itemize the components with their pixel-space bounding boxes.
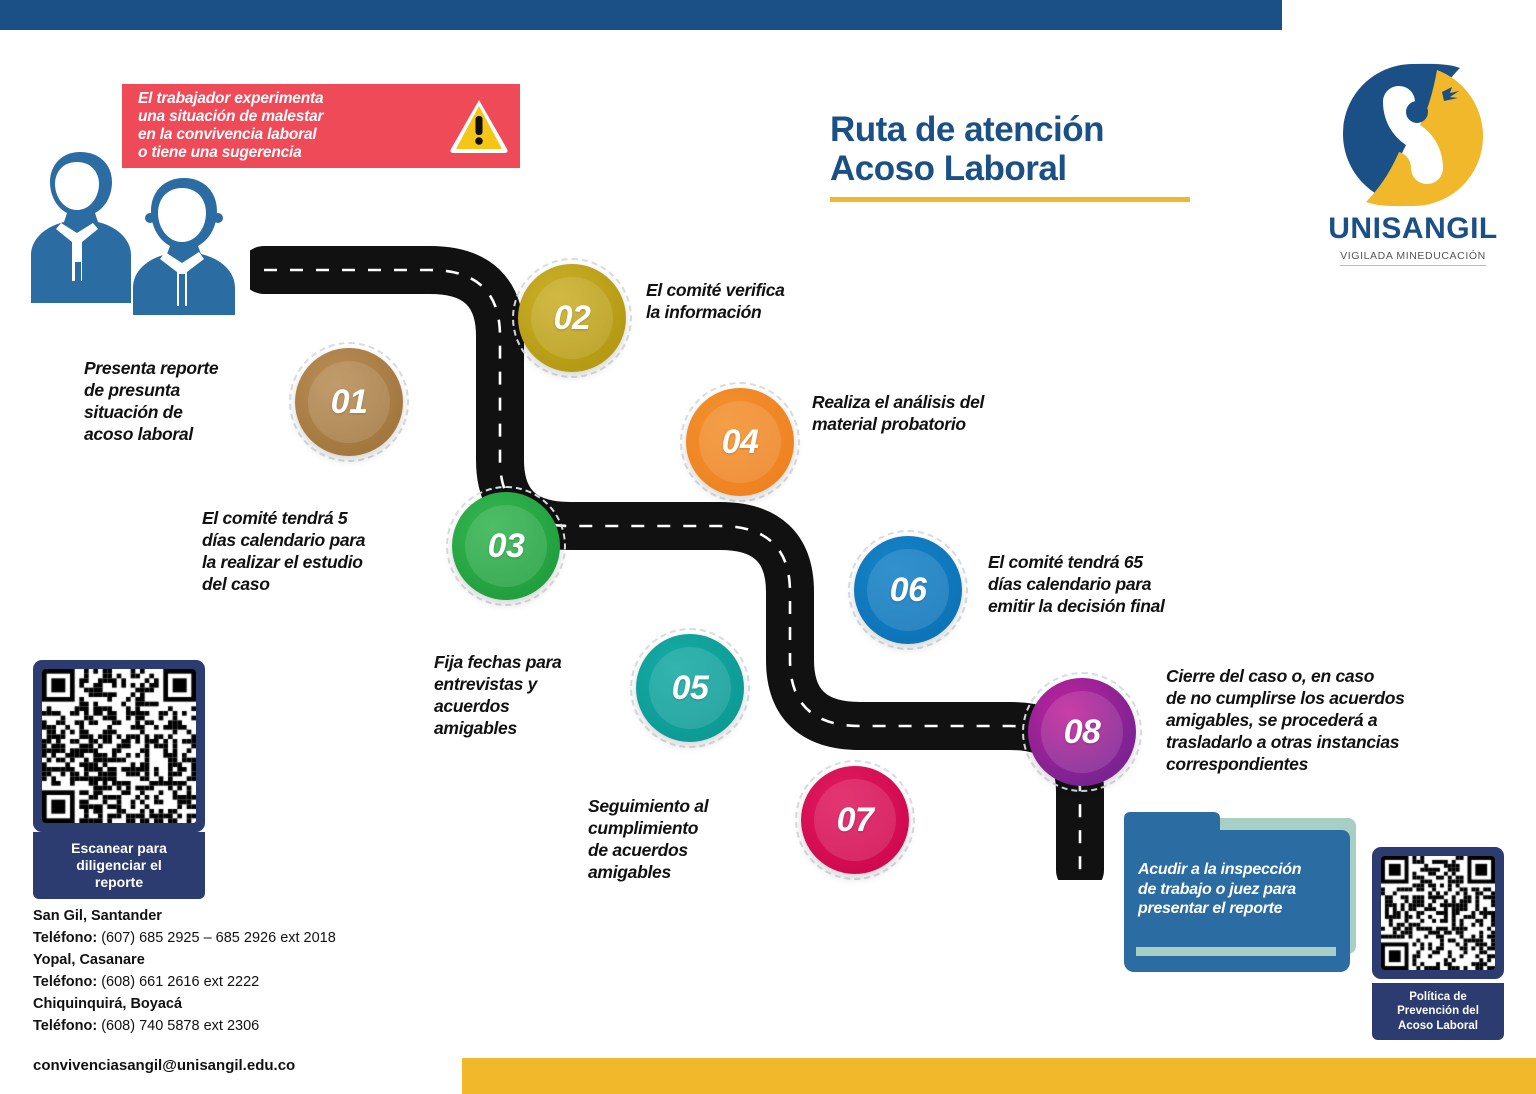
step-disc: 08: [1028, 678, 1136, 786]
qr-report-frame: [33, 660, 205, 832]
step-disc: 02: [518, 264, 626, 372]
step-caption-03: El comité tendrá 5 días calendario para …: [202, 508, 442, 596]
qr-report-panel[interactable]: Escanear para diligenciar el reporte: [33, 660, 205, 899]
step-disc: 05: [636, 634, 744, 742]
bottom-decorative-bar: [462, 1058, 1536, 1094]
folder-card: Acudir a la inspección de trabajo o juez…: [1124, 812, 1356, 972]
folder-body: Acudir a la inspección de trabajo o juez…: [1124, 830, 1350, 972]
folder-text: Acudir a la inspección de trabajo o juez…: [1138, 860, 1336, 919]
step-caption-01: Presenta reporte de presunta situación d…: [84, 358, 284, 446]
step-disc: 03: [452, 492, 560, 600]
step-caption-04: Realiza el análisis del material probato…: [812, 392, 1062, 436]
unisangil-logo: UNISANGIL VIGILADA MINEDUCACIÓN: [1318, 60, 1508, 266]
contact-city-2: Chiquinquirá, Boyacá: [33, 993, 453, 1015]
qr-report-code[interactable]: [42, 669, 196, 823]
qr-policy-panel[interactable]: Política de Prevención del Acoso Laboral: [1372, 847, 1504, 1040]
logo-tagline: VIGILADA MINEDUCACIÓN: [1340, 250, 1486, 266]
contact-city-1: Yopal, Casanare: [33, 949, 453, 971]
step-disc: 07: [801, 766, 909, 874]
qr-policy-code[interactable]: [1381, 856, 1495, 970]
qr-report-label: Escanear para diligenciar el reporte: [33, 832, 205, 899]
step-number: 06: [890, 571, 927, 610]
step-number: 05: [672, 669, 709, 708]
step-caption-02: El comité verifica la información: [646, 280, 876, 324]
title-underline: [830, 197, 1190, 202]
alert-banner: El trabajador experimenta una situación …: [122, 84, 520, 168]
page-title-block: Ruta de atención Acoso Laboral: [830, 110, 1210, 202]
step-caption-06: El comité tendrá 65 días calendario para…: [988, 552, 1248, 618]
contact-email[interactable]: convivenciasangil@unisangil.edu.co: [33, 1055, 453, 1078]
step-number: 02: [554, 299, 591, 338]
step-disc: 06: [854, 536, 962, 644]
qr-policy-label: Política de Prevención del Acoso Laboral: [1372, 983, 1504, 1040]
contact-phone-1: Teléfono: (608) 661 2616 ext 2222: [33, 971, 453, 993]
step-disc: 04: [686, 388, 794, 496]
infographic-canvas: El trabajador experimenta una situación …: [0, 0, 1536, 1094]
step-number: 03: [488, 527, 525, 566]
unisangil-mark-icon: [1338, 60, 1488, 210]
step-node-06[interactable]: 06: [848, 530, 968, 650]
step-number: 07: [837, 801, 874, 840]
warning-triangle-icon: [448, 97, 510, 155]
alert-banner-text: El trabajador experimenta una situación …: [138, 90, 440, 162]
logo-wordmark: UNISANGIL: [1318, 212, 1508, 246]
step-caption-05: Fija fechas para entrevistas y acuerdos …: [434, 652, 629, 740]
step-number: 04: [722, 423, 759, 462]
step-disc: 01: [295, 348, 403, 456]
step-node-03[interactable]: 03: [446, 486, 566, 606]
step-node-05[interactable]: 05: [630, 628, 750, 748]
step-number: 08: [1064, 713, 1101, 752]
qr-policy-frame: [1372, 847, 1504, 979]
step-node-07[interactable]: 07: [795, 760, 915, 880]
step-node-08[interactable]: 08: [1022, 672, 1142, 792]
contact-block: San Gil, Santander Teléfono: (607) 685 2…: [33, 905, 453, 1078]
contact-phone-0: Teléfono: (607) 685 2925 – 685 2926 ext …: [33, 927, 453, 949]
folder-stripe: [1136, 947, 1336, 956]
contact-phone-2: Teléfono: (608) 740 5878 ext 2306: [33, 1015, 453, 1037]
step-number: 01: [331, 383, 368, 422]
contact-city-0: San Gil, Santander: [33, 905, 453, 927]
step-node-02[interactable]: 02: [512, 258, 632, 378]
page-title: Ruta de atención Acoso Laboral: [830, 110, 1210, 188]
step-caption-08: Cierre del caso o, en caso de no cumplir…: [1166, 666, 1486, 775]
step-node-04[interactable]: 04: [680, 382, 800, 502]
step-caption-07: Seguimiento al cumplimiento de acuerdos …: [588, 796, 788, 884]
step-node-01[interactable]: 01: [289, 342, 409, 462]
top-decorative-bar: [0, 0, 1282, 30]
